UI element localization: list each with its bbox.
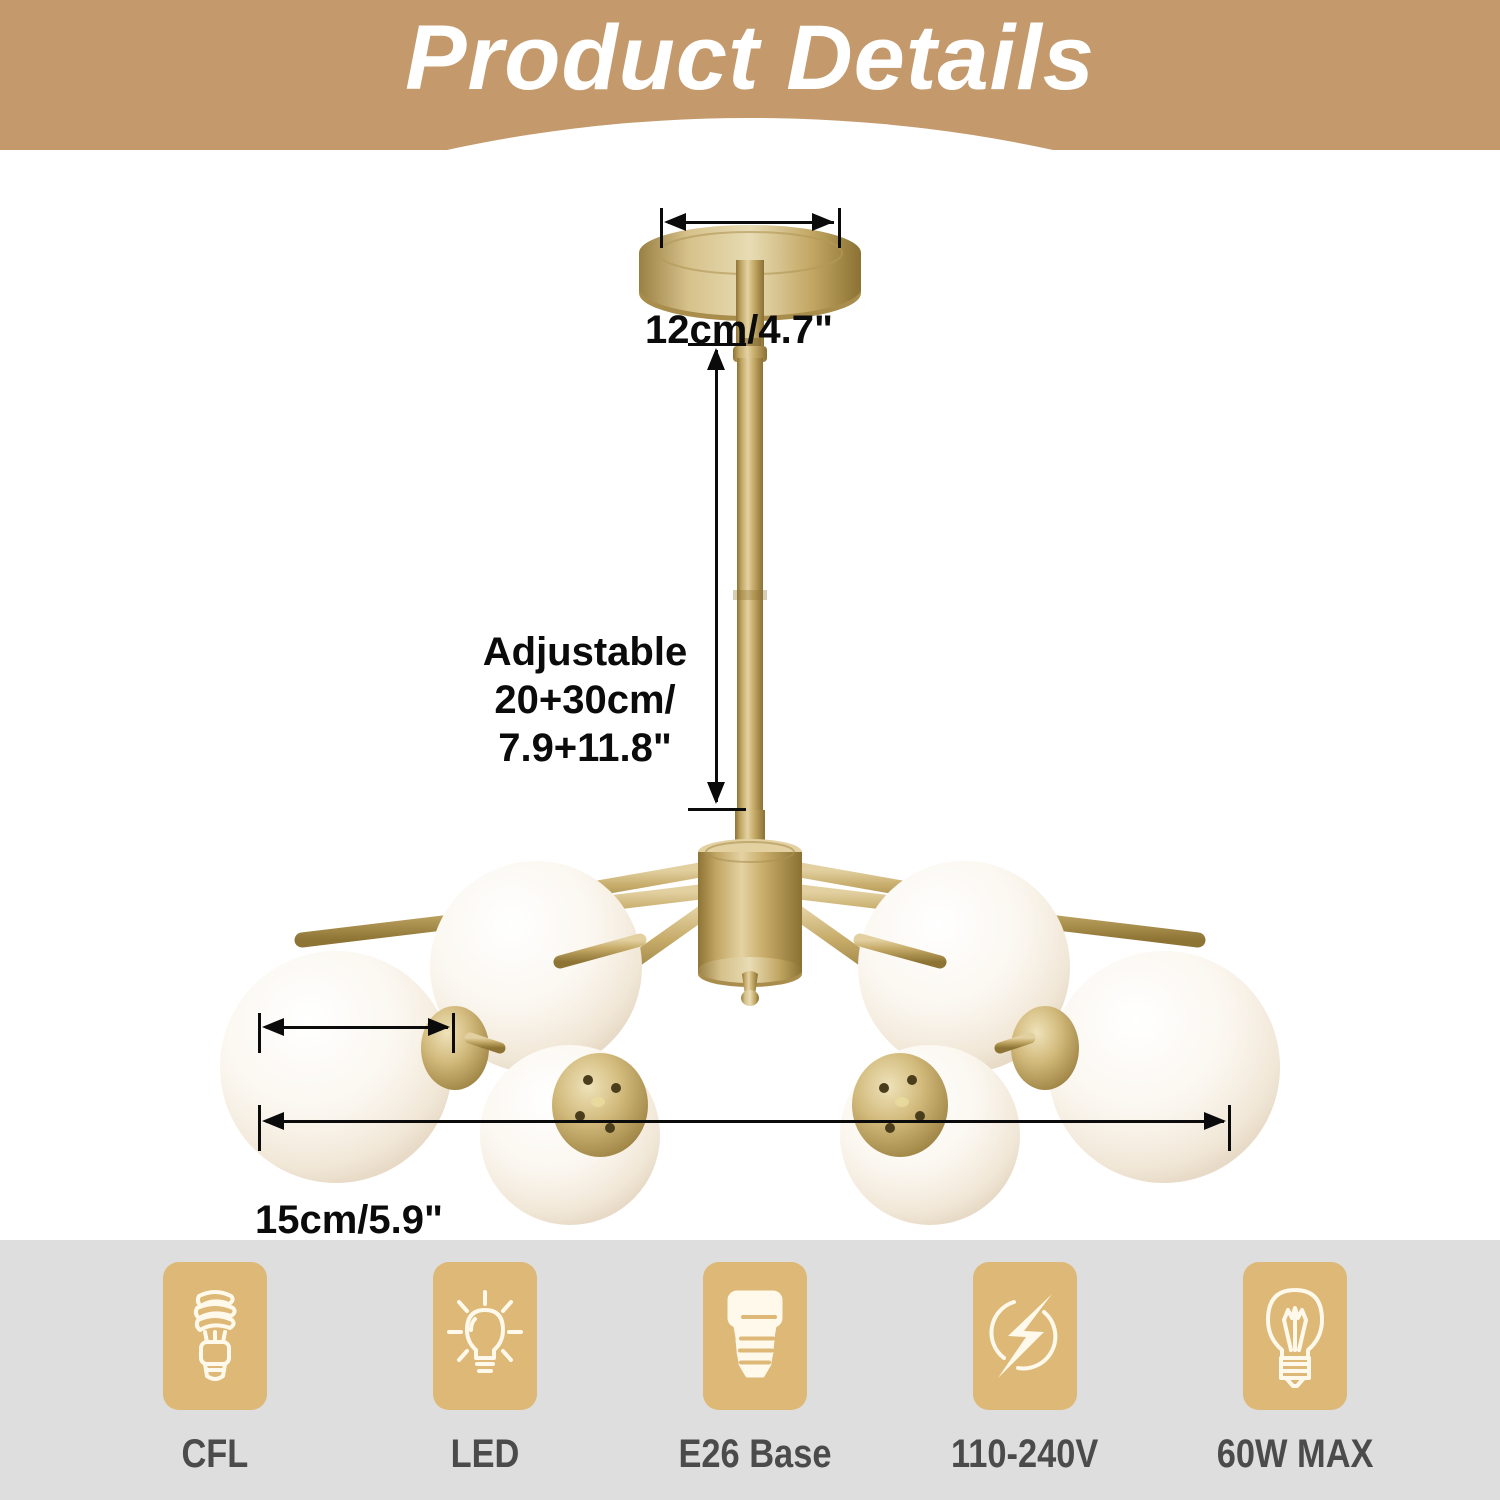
feature-item-wattage: 60W MAX [1170, 1240, 1420, 1477]
header-banner: Product Details [0, 0, 1500, 165]
filament-bulb-icon [1258, 1284, 1332, 1388]
canopy-dim-arrow-left [664, 213, 686, 231]
feature-label-led: LED [451, 1432, 520, 1477]
product-details-page: Product Details [0, 0, 1500, 1500]
globe-far-left [220, 951, 452, 1183]
feature-label-e26: E26 Base [678, 1432, 831, 1477]
socket-cup-left-lower [552, 1053, 648, 1157]
feature-item-cfl: CFL [90, 1240, 340, 1477]
width-dim-tick-right [1228, 1105, 1231, 1151]
voltage-badge [973, 1262, 1077, 1410]
globe-dim-arrow-right [428, 1018, 450, 1036]
adjustable-dim-tick-bottom [688, 808, 746, 811]
canopy-dim-tick-left [660, 208, 663, 248]
globe-dimension-label: 15cm/5.9" [255, 1198, 443, 1243]
globe-dim-tick-right [452, 1013, 455, 1053]
globe-dim-tick-left [258, 1013, 261, 1053]
product-illustration-area: 12cm/4.7" Adjustable 20+30cm/ 7.9+11.8" … [0, 150, 1500, 1240]
adjustable-line-3: 7.9+11.8" [470, 724, 700, 772]
adjustable-dim-arrow-up [707, 348, 725, 370]
width-dim-tick-left [258, 1105, 261, 1151]
feature-list: CFL [90, 1240, 1420, 1500]
canopy-dim-arrow-right [812, 213, 834, 231]
feature-item-led: LED [360, 1240, 610, 1477]
feature-label-wattage: 60W MAX [1217, 1432, 1374, 1477]
adjustable-dim-arrow-down [707, 782, 725, 804]
feature-label-voltage: 110-240V [951, 1432, 1098, 1477]
adjustable-line-2: 20+30cm/ [470, 676, 700, 724]
globe-dim-arrow-left [262, 1018, 284, 1036]
wattage-badge [1243, 1262, 1347, 1410]
canopy-dim-tick-right [838, 208, 841, 248]
feature-item-e26: E26 Base [630, 1240, 880, 1477]
adjustable-dim-line [715, 350, 718, 802]
feature-specs-strip: CFL [0, 1240, 1500, 1500]
cfl-badge [163, 1262, 267, 1410]
width-dim-arrow-left [262, 1112, 284, 1130]
canopy-dim-line [668, 221, 834, 224]
width-dim-arrow-right [1204, 1112, 1226, 1130]
canopy-dimension-label: 12cm/4.7" [645, 308, 833, 353]
cfl-spiral-bulb-icon [179, 1284, 251, 1388]
center-hub [698, 839, 802, 1006]
led-badge [433, 1262, 537, 1410]
e26-screw-base-icon [719, 1286, 791, 1386]
adjustable-dim-tick-top [688, 343, 746, 346]
feature-label-cfl: CFL [182, 1432, 249, 1477]
adjustable-dimension-label: Adjustable 20+30cm/ 7.9+11.8" [470, 628, 700, 772]
page-title: Product Details [0, 6, 1500, 111]
lightning-bolt-circle-icon [982, 1288, 1068, 1384]
globe-far-right [1048, 951, 1280, 1183]
e26-badge [703, 1262, 807, 1410]
width-dim-line [266, 1120, 1224, 1123]
adjustable-line-1: Adjustable [470, 628, 700, 676]
globe-dim-line [266, 1026, 448, 1029]
feature-item-voltage: 110-240V [900, 1240, 1150, 1477]
led-bulb-rays-icon [445, 1288, 525, 1384]
socket-cup-right-lower [852, 1053, 948, 1157]
